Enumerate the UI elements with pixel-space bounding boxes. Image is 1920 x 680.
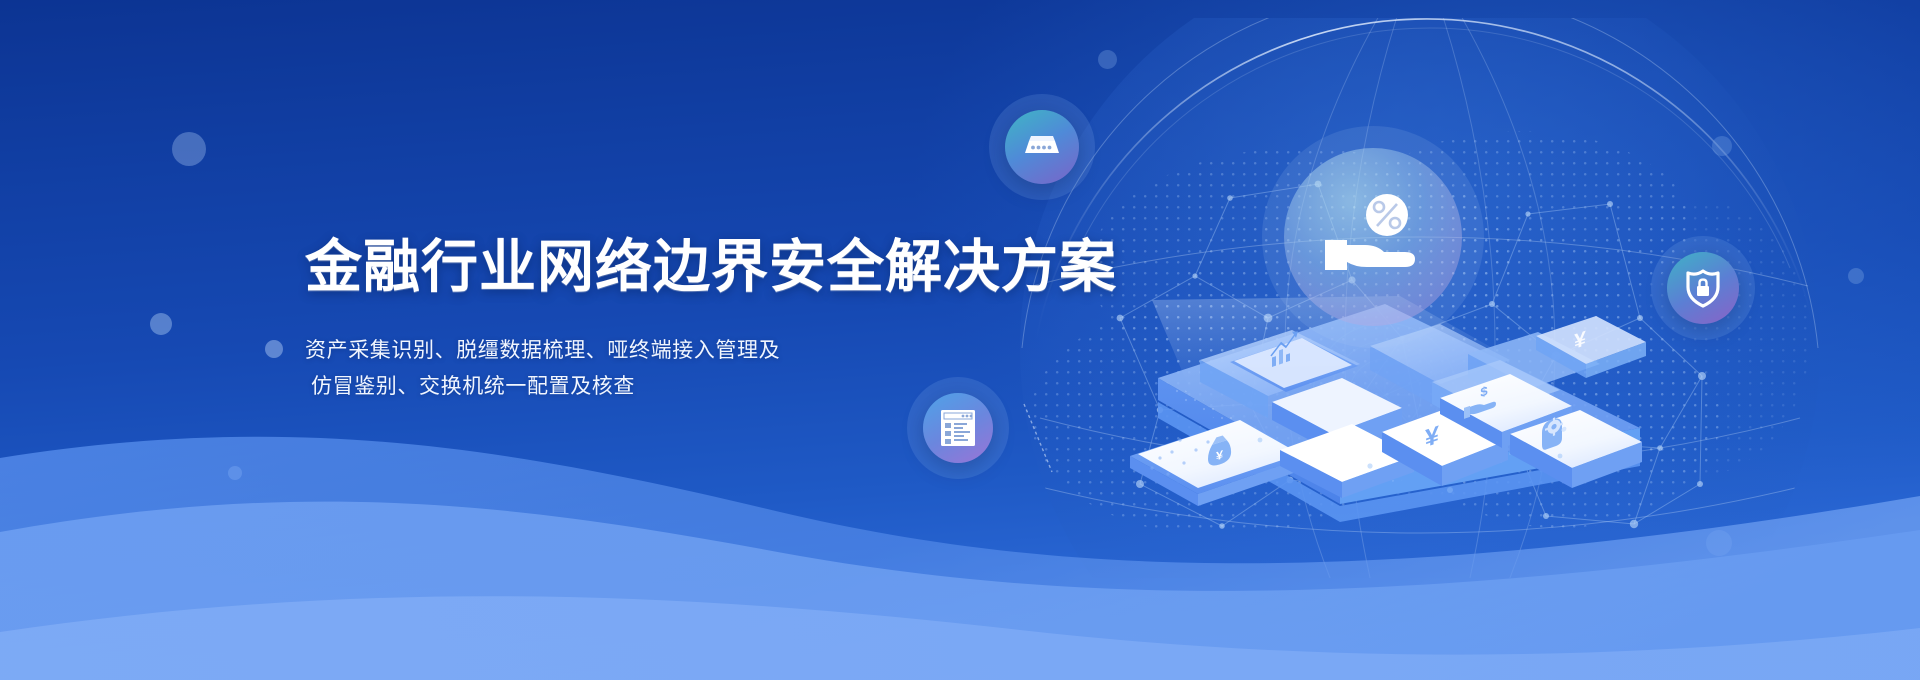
bokeh-dot xyxy=(1848,268,1864,284)
document-list-icon xyxy=(940,409,976,447)
hero-banner: ¥ xyxy=(0,0,1920,680)
svg-text:¥: ¥ xyxy=(1216,448,1223,463)
tile-yuan: ¥ xyxy=(1382,408,1508,486)
badge-shield-lock xyxy=(1667,252,1739,324)
page-title: 金融行业网络边界安全解决方案 xyxy=(305,236,1065,300)
hand-percent-icon xyxy=(1321,193,1425,281)
tile-hand-dollar: $ xyxy=(1440,374,1572,448)
network-switch-icon xyxy=(1022,133,1062,161)
tile-yuan-small: ¥ xyxy=(1536,316,1646,378)
tile-ai-brain xyxy=(1510,410,1642,488)
bokeh-dot xyxy=(1098,50,1117,69)
tile-blank-upper xyxy=(1272,378,1402,452)
hand-percent-sphere xyxy=(1284,148,1462,326)
subtitle-line-2: 仿冒鉴别、交换机统一配置及核查 xyxy=(305,369,1065,405)
bokeh-dot xyxy=(228,466,242,480)
svg-text:$: $ xyxy=(1480,383,1488,400)
tile-money-bag: ¥ xyxy=(1130,420,1308,506)
bokeh-dot xyxy=(150,313,172,335)
bokeh-dot xyxy=(172,132,206,166)
subtitle-line-1: 资产采集识别、脱缰数据梳理、哑终端接入管理及 xyxy=(305,333,1065,369)
page-subtitle: 资产采集识别、脱缰数据梳理、哑终端接入管理及 仿冒鉴别、交换机统一配置及核查 xyxy=(305,333,1065,405)
badge-network-switch xyxy=(1005,110,1079,184)
bokeh-dot xyxy=(1712,136,1732,156)
bokeh-dot xyxy=(1706,530,1732,556)
hero-copy: 金融行业网络边界安全解决方案 资产采集识别、脱缰数据梳理、哑终端接入管理及 仿冒… xyxy=(305,236,1065,405)
svg-text:¥: ¥ xyxy=(1574,326,1586,354)
svg-text:¥: ¥ xyxy=(1425,421,1440,453)
bokeh-dot xyxy=(265,340,283,358)
tile-blank-lower xyxy=(1280,424,1414,498)
shield-lock-icon xyxy=(1685,268,1721,308)
